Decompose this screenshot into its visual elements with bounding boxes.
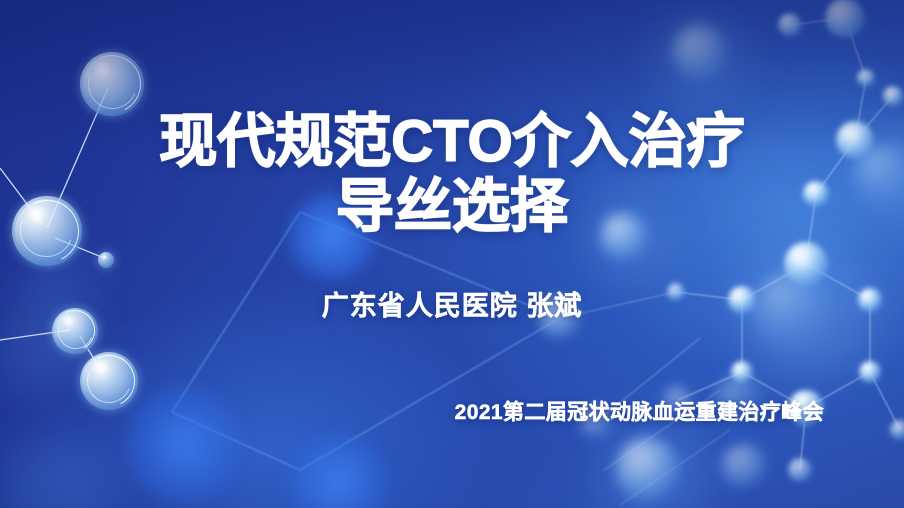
conference-name: 2021第二届冠状动脉血运重建治疗峰会 — [455, 396, 824, 426]
slide-title: 现代规范CTO介入治疗 导丝选择 — [0, 112, 904, 236]
background-top-shade — [0, 0, 904, 508]
presentation-title-slide: 现代规范CTO介入治疗 导丝选择 广东省人民医院 张斌 2021第二届冠状动脉血… — [0, 0, 904, 508]
presenter-affiliation: 广东省人民医院 张斌 — [0, 284, 904, 323]
title-line-2: 导丝选择 — [0, 177, 904, 236]
title-line-1: 现代规范CTO介入治疗 — [0, 112, 904, 171]
